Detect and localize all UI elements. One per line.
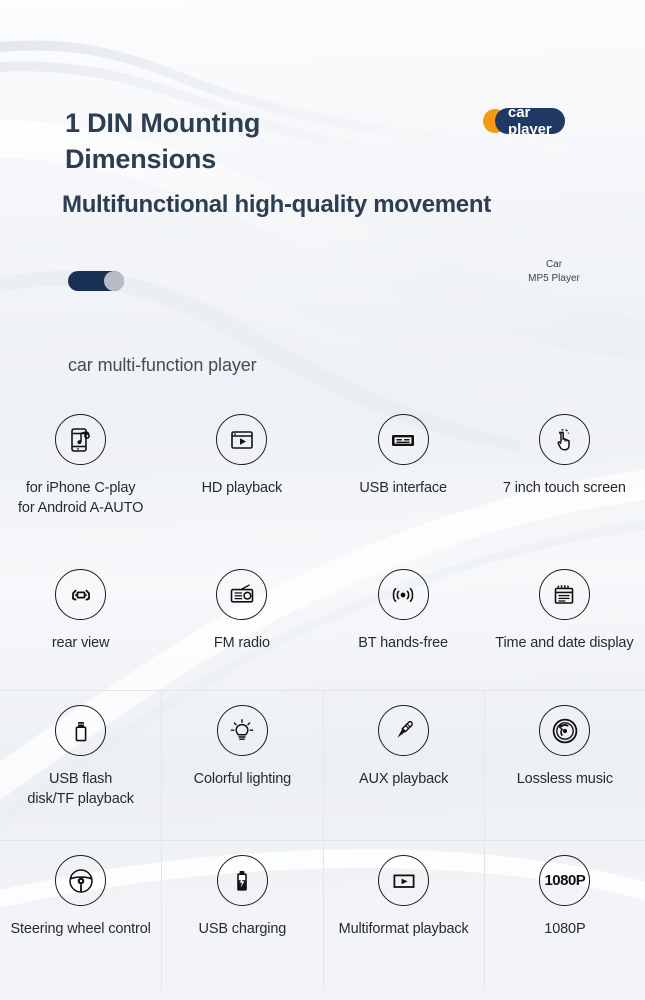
- feature-label: USB flash disk/TF playback: [27, 770, 133, 809]
- aux-jack-icon: [378, 705, 429, 756]
- feature-cell-usb-charging[interactable]: USB charging: [161, 840, 322, 990]
- bluetooth-signal-icon: [378, 569, 429, 620]
- feature-label: BT hands-free: [358, 634, 448, 654]
- mp5-label-line2: MP5 Player: [528, 273, 580, 284]
- feature-label: Colorful lighting: [194, 770, 291, 790]
- feature-cell-fm-radio[interactable]: FM radio: [161, 555, 322, 710]
- feature-cell-hd-playback[interactable]: HD playback: [161, 400, 322, 555]
- feature-label: Lossless music: [517, 770, 613, 790]
- feature-cell-lossless-music[interactable]: Lossless music: [484, 690, 645, 840]
- mp5-label-line1: Car: [546, 259, 562, 270]
- feature-label: USB charging: [199, 920, 287, 940]
- touch-hand-icon: [539, 414, 590, 465]
- light-bulb-icon: [217, 705, 268, 756]
- phone-music-icon: [55, 414, 106, 465]
- feature-cell-usb-flash[interactable]: USB flash disk/TF playback: [0, 690, 161, 840]
- battery-charging-icon: [217, 855, 268, 906]
- feature-cell-time-date[interactable]: Time and date display: [484, 555, 645, 710]
- steering-wheel-icon: [55, 855, 106, 906]
- usb-port-icon: [378, 414, 429, 465]
- feature-label: AUX playback: [359, 770, 448, 790]
- feature-label: for iPhone C-play for Android A-AUTO: [18, 479, 143, 518]
- feature-label: 1080P: [544, 920, 585, 940]
- feature-label: USB interface: [359, 479, 447, 499]
- resolution-icon-text: 1080P: [544, 872, 585, 889]
- feature-cell-steering-wheel[interactable]: Steering wheel control: [0, 840, 161, 990]
- feature-label: 7 inch touch screen: [503, 479, 626, 499]
- calendar-clock-icon: [539, 569, 590, 620]
- feature-cell-usb-interface[interactable]: USB interface: [323, 400, 484, 555]
- feature-label: Time and date display: [495, 634, 633, 654]
- page-subtitle: Multifunctional high-quality movement: [62, 191, 491, 219]
- feature-grid-top: for iPhone C-play for Android A-AUTO HD …: [0, 400, 645, 710]
- mp5-player-label: CarMP5 Player: [499, 258, 609, 285]
- feature-cell-aux-playback[interactable]: AUX playback: [323, 690, 484, 840]
- disc-music-icon: [539, 705, 590, 756]
- feature-cell-carplay[interactable]: for iPhone C-play for Android A-AUTO: [0, 400, 161, 555]
- feature-cell-colorful-lighting[interactable]: Colorful lighting: [161, 690, 322, 840]
- decorative-toggle[interactable]: [68, 271, 124, 291]
- feature-cell-touch-screen[interactable]: 7 inch touch screen: [484, 400, 645, 555]
- feature-cell-multiformat-playback[interactable]: Multiformat playback: [323, 840, 484, 990]
- page-title-line1: 1 DIN Mounting: [65, 108, 260, 138]
- video-play-screen-icon: [216, 414, 267, 465]
- section-title: car multi-function player: [68, 355, 257, 376]
- feature-grid-bottom: USB flash disk/TF playback Colorful ligh…: [0, 690, 645, 990]
- feature-label: Multiformat playback: [339, 920, 469, 940]
- badge-label: car player: [495, 108, 565, 134]
- feature-label: rear view: [52, 634, 109, 654]
- feature-cell-bt-handsfree[interactable]: BT hands-free: [323, 555, 484, 710]
- feature-cell-rear-view[interactable]: rear view: [0, 555, 161, 710]
- play-screen-icon: [378, 855, 429, 906]
- header: 1 DIN MountingDimensions Multifunctional…: [0, 0, 645, 340]
- toggle-knob: [104, 271, 124, 291]
- resolution-1080p-icon: 1080P: [539, 855, 590, 906]
- feature-label: FM radio: [214, 634, 270, 654]
- page-title-line2: Dimensions: [65, 144, 216, 174]
- feature-label: Steering wheel control: [11, 920, 151, 940]
- feature-label: HD playback: [202, 479, 283, 499]
- fm-radio-icon: [216, 569, 267, 620]
- page-title: 1 DIN MountingDimensions: [65, 106, 465, 178]
- feature-cell-1080p[interactable]: 1080P 1080P: [484, 840, 645, 990]
- usb-flash-drive-icon: [55, 705, 106, 756]
- rear-view-camera-icon: [55, 569, 106, 620]
